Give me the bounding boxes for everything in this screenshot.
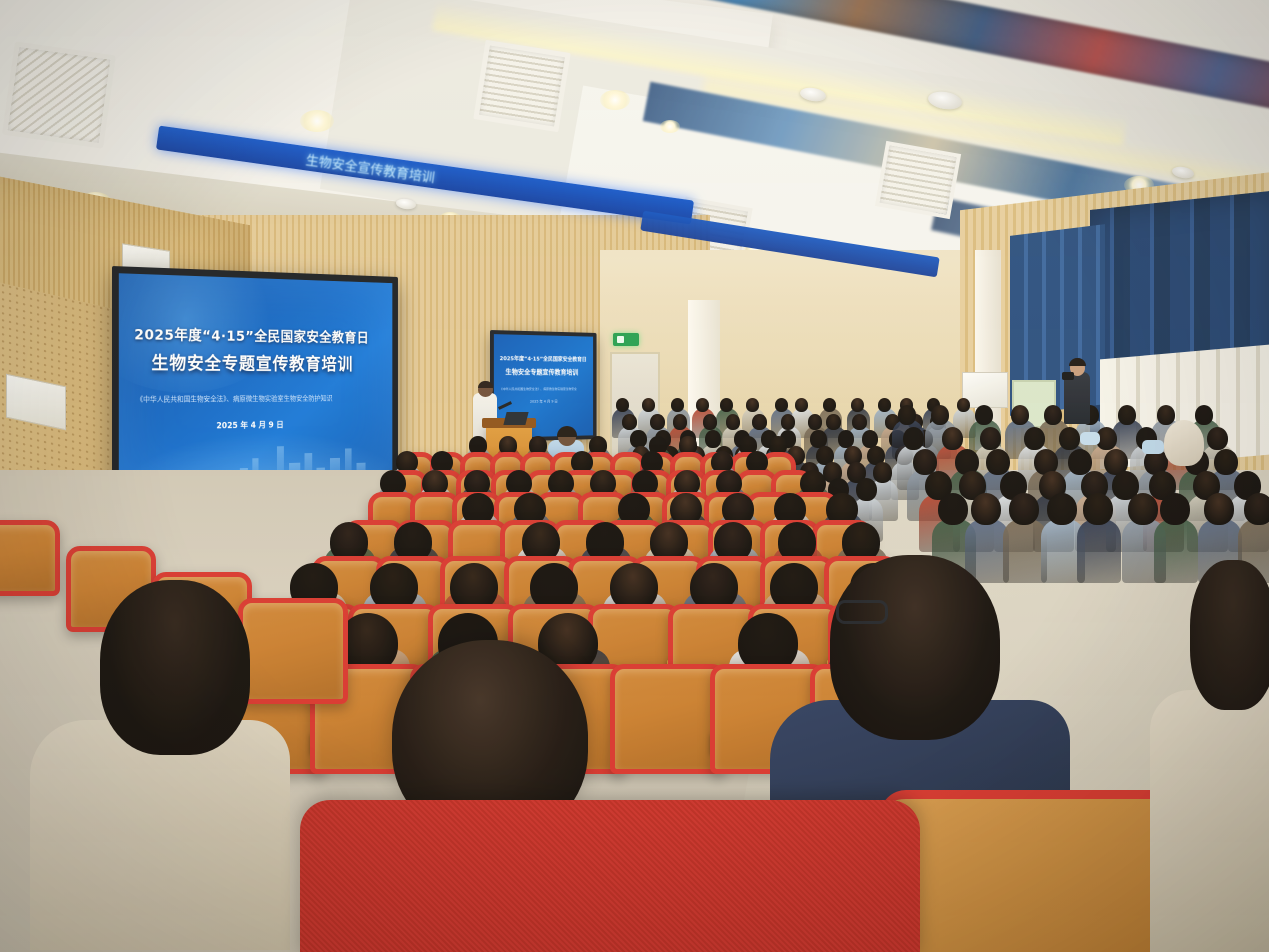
audience-head (1244, 493, 1269, 525)
side-screen-title-line1: 2025年度“4·15”全民国家安全教育日 (500, 354, 587, 363)
audience-head (1009, 493, 1039, 525)
screen-date: 2025 年 4 月 9 日 (216, 419, 283, 431)
audience-head (810, 430, 826, 448)
audience-head (862, 430, 878, 448)
audience-head (851, 398, 864, 412)
audience-head (903, 427, 924, 450)
audience-head (1047, 493, 1077, 525)
audience-body (1077, 519, 1121, 583)
audience-head (726, 414, 741, 430)
side-screen-title-line2: 生物安全专题宣传教育培训 (505, 366, 578, 376)
audience-head (957, 398, 970, 412)
audience-head (1204, 493, 1234, 525)
screen-title-line2: 生物安全专题宣传教育培训 (151, 349, 353, 375)
audience-head (826, 414, 841, 430)
audience-head (746, 398, 759, 412)
conference-hall-photo: 生物安全宣传教育培训 2025年度“4·15”全民国家安全教育日 生物安全专题宣… (0, 0, 1269, 952)
audience-head (642, 398, 655, 412)
air-vent-icon (2, 41, 116, 148)
audience-head (705, 430, 721, 448)
seat-back (610, 664, 726, 774)
audience-head (1157, 405, 1175, 425)
audience-head (938, 493, 968, 525)
audience-head (795, 398, 808, 412)
audience-head (630, 430, 646, 448)
audience-head (1011, 405, 1029, 425)
screen-title-line1: 2025年度“4·15”全民国家安全教育日 (134, 323, 369, 347)
side-screen-subtitle: 《中华人民共和国生物安全法》、病原微生物实验室生物安全 (500, 386, 577, 391)
audience-head (696, 398, 709, 412)
audience-head (852, 414, 867, 430)
audience-head (1160, 493, 1190, 525)
audience-head (622, 414, 637, 430)
audience-head (986, 449, 1010, 475)
audience-head (823, 398, 836, 412)
downlight-icon (300, 110, 334, 132)
audience-head (1214, 449, 1238, 475)
audience-head (720, 398, 733, 412)
audience-head (1118, 405, 1136, 425)
audience-head (752, 414, 767, 430)
audience-head (898, 405, 916, 425)
audience-head (873, 462, 892, 483)
presenter-hair (478, 381, 493, 388)
audience-head (673, 414, 688, 430)
audience-head (975, 405, 993, 425)
side-screen-date: 2025 年 4 月 9 日 (530, 400, 558, 405)
audience-head (856, 478, 877, 501)
audience-head (971, 493, 1001, 525)
audience-head (650, 414, 665, 430)
foreground-attendee-far-right-head (1190, 560, 1269, 710)
foreground-seat-red (300, 800, 920, 952)
audience-head (1083, 493, 1113, 525)
photographer-hair (1069, 358, 1086, 366)
audience-head (808, 414, 823, 430)
audience-head (1044, 405, 1062, 425)
audience-head (878, 398, 891, 412)
audience-head (838, 430, 854, 448)
main-projection-screen: 2025年度“4·15”全民国家安全教育日 生物安全专题宣传教育培训 《中华人民… (112, 266, 398, 499)
face-mask-icon (1142, 440, 1164, 454)
audience-head-scarf (1164, 420, 1204, 466)
podium-laptop (503, 412, 528, 425)
exit-sign-icon (613, 333, 639, 346)
downlight-icon (660, 120, 680, 133)
audience-head (703, 414, 718, 430)
downlight-icon (600, 90, 630, 110)
audience-head (1128, 493, 1158, 525)
foreground-attendee-far-right (1150, 690, 1269, 952)
audience-head (980, 427, 1001, 450)
audience-head (1024, 427, 1045, 450)
screen-subtitle: 《中华人民共和国生物安全法》、病原微生物实验室生物安全防护知识 (136, 394, 332, 405)
audience-head (616, 398, 629, 412)
auditorium-seat[interactable] (0, 520, 60, 596)
foreground-seat-wood (880, 790, 1180, 952)
foreground-attendee-right-head (830, 555, 1000, 740)
face-mask-icon (1080, 432, 1100, 445)
eyeglasses-icon (836, 600, 888, 624)
seat-back (238, 598, 348, 704)
air-vent-icon (875, 141, 961, 219)
foreground-attendee-left-head (100, 580, 250, 755)
air-vent-icon (473, 40, 570, 132)
audience-head (775, 398, 788, 412)
audience-head (1059, 427, 1080, 450)
audience-body (1154, 519, 1198, 583)
audience-head (1207, 427, 1228, 450)
audience-head (942, 427, 963, 450)
audience-head (781, 414, 796, 430)
audience-head (931, 405, 949, 425)
audience-head (671, 398, 684, 412)
seat-back (0, 520, 60, 596)
auditorium-seat[interactable] (610, 664, 726, 774)
auditorium-seat[interactable] (238, 598, 348, 704)
camera-icon (1062, 372, 1074, 380)
audience-head (1195, 405, 1213, 425)
